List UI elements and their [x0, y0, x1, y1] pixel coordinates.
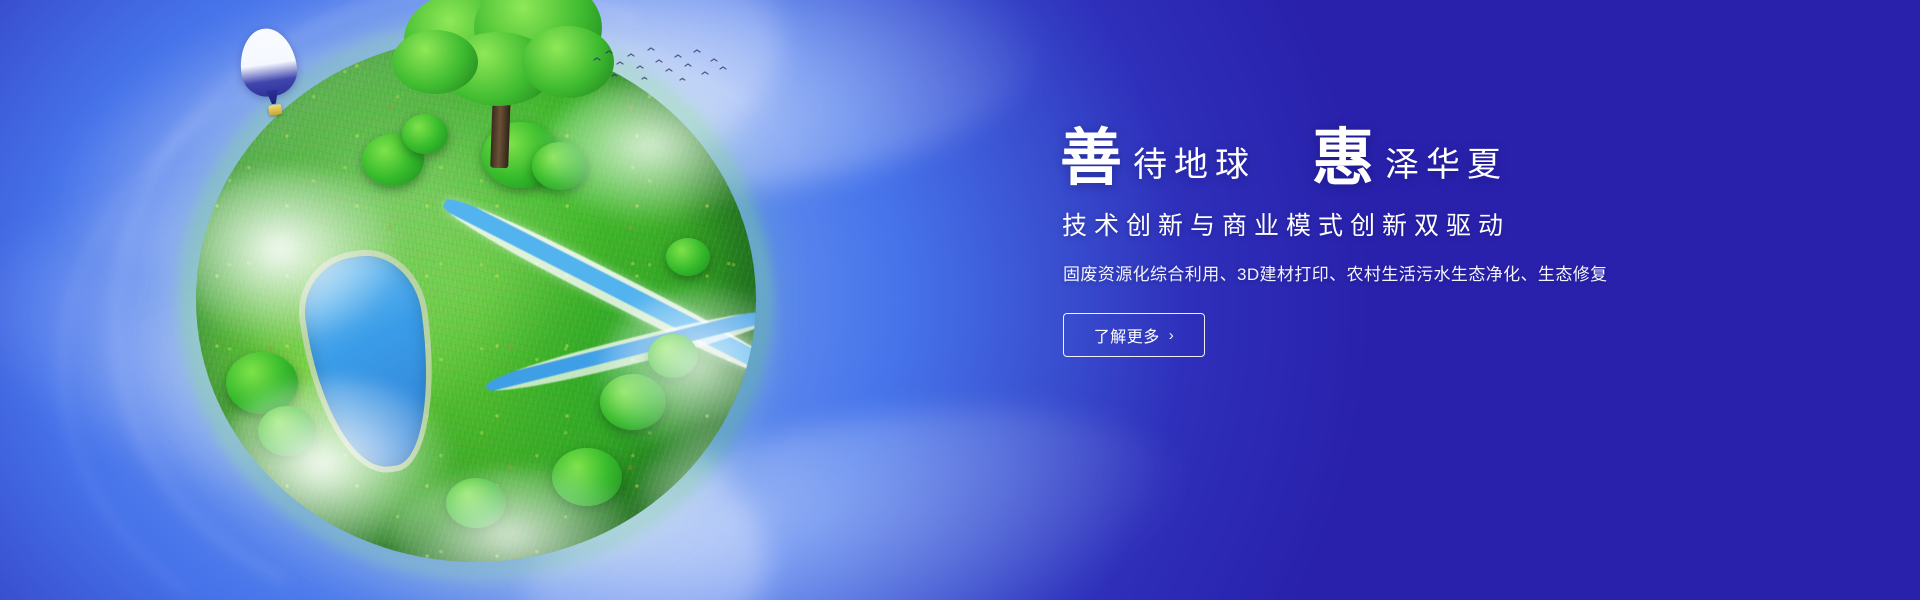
balloon-basket: [268, 104, 282, 116]
banner-subtitle: 技术创新与商业模式创新双驱动: [1062, 206, 1780, 242]
page-title: 善 待地球 惠 泽华夏: [1060, 128, 1780, 190]
banner-content: 善 待地球 惠 泽华夏 技术创新与商业模式创新双驱动 固废资源化综合利用、3D建…: [1060, 128, 1780, 357]
headline-part2-secondary: 泽华夏: [1375, 149, 1508, 190]
balloon-envelope: [236, 25, 301, 100]
headline-part1-primary: 善: [1060, 128, 1123, 190]
learn-more-button[interactable]: 了解更多 ›: [1063, 313, 1205, 357]
learn-more-label: 了解更多: [1094, 323, 1160, 347]
bird-flock: [590, 44, 730, 90]
tree-cluster: [666, 238, 710, 276]
chevron-right-icon: ›: [1169, 327, 1175, 344]
banner-description: 固废资源化综合利用、3D建材打印、农村生活污水生态净化、生态修复: [1063, 260, 1780, 285]
headline-part2-primary: 惠: [1312, 128, 1375, 190]
tree-canopy: [392, 30, 478, 94]
hero-banner: 善 待地球 惠 泽华夏 技术创新与商业模式创新双驱动 固废资源化综合利用、3D建…: [0, 0, 1920, 600]
headline-part1-secondary: 待地球: [1123, 149, 1256, 190]
tree: [396, 0, 616, 166]
